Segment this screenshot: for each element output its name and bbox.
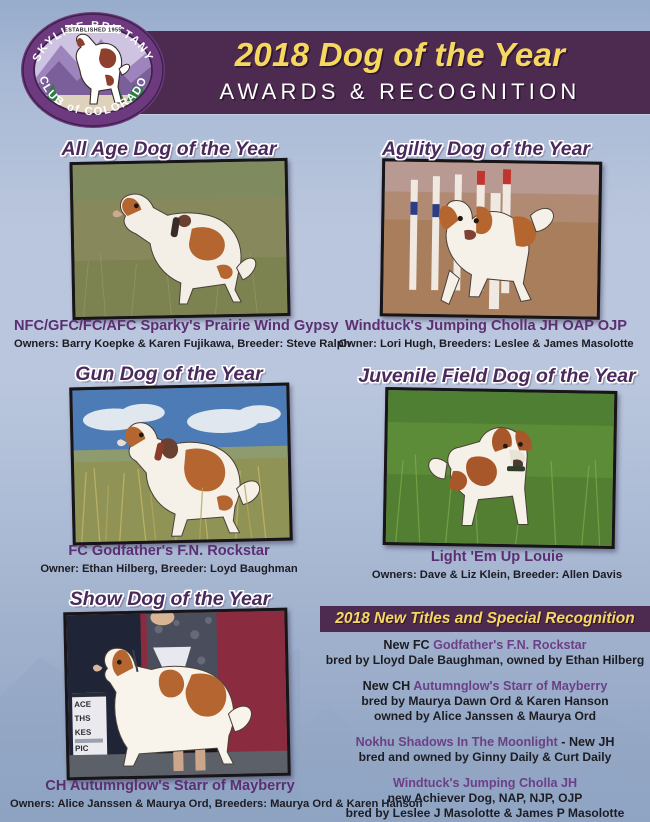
award-credit: Owners: Alice Janssen & Maurya Ord, Bree… (10, 798, 330, 810)
new-title-dog-name: Windtuck's Jumping Cholla JH (393, 776, 577, 790)
award-photo-juvenile-field[interactable] (383, 387, 618, 549)
new-title-suffix: - New JH (558, 735, 615, 749)
new-titles-list: New FC Godfather's F.N. Rockstar bred by… (320, 638, 650, 822)
award-dog-name: CH Autumnglow's Starr of Mayberry (10, 778, 330, 794)
new-title-heading: Nokhu Shadows In The Moonlight - New JH (320, 735, 650, 750)
new-title-detail: bred and owned by Ginny Daily & Curt Dai… (320, 750, 650, 765)
award-block-all-age: All Age Dog of the Year (14, 138, 324, 353)
award-dog-name: Light 'Em Up Louie (352, 549, 642, 565)
award-title: Gun Dog of the Year (14, 363, 324, 386)
new-titles-header-label: 2018 New Titles and Special Recognition (320, 606, 650, 632)
award-block-show-dog: Show Dog of the Year (10, 588, 330, 813)
new-title-detail: bred by Lloyd Dale Baughman, owned by Et… (320, 653, 650, 668)
svg-text:ACE: ACE (74, 700, 92, 709)
new-title-entry: Nokhu Shadows In The Moonlight - New JH … (320, 735, 650, 765)
page-subtitle: AWARDS & RECOGNITION (150, 79, 650, 105)
new-title-heading: New CH Autumnglow's Starr of Mayberry (320, 679, 650, 694)
new-title-prefix: New FC (383, 638, 433, 652)
new-titles-header-bar: 2018 New Titles and Special Recognition (320, 606, 650, 632)
award-block-agility: Agility Dog of the Year (336, 138, 636, 353)
award-photo-agility[interactable] (380, 158, 602, 319)
award-credit: Owner: Lori Hugh, Breeders: Leslee & Jam… (336, 338, 636, 350)
new-title-heading: New FC Godfather's F.N. Rockstar (320, 638, 650, 653)
award-dog-name: Windtuck's Jumping Cholla JH OAP OJP (336, 318, 636, 334)
new-title-entry: New CH Autumnglow's Starr of Mayberry br… (320, 679, 650, 724)
new-title-entry: New FC Godfather's F.N. Rockstar bred by… (320, 638, 650, 668)
award-credit: Owners: Barry Koepke & Karen Fujikawa, B… (14, 338, 324, 350)
award-credit: Owner: Ethan Hilberg, Breeder: Loyd Baug… (14, 563, 324, 575)
svg-text:PIC: PIC (75, 744, 89, 753)
svg-text:KES: KES (75, 728, 92, 737)
poster-canvas: 2018 Dog of the Year AWARDS & RECOGNITIO… (0, 0, 650, 822)
new-title-heading: Windtuck's Jumping Cholla JH (320, 776, 650, 791)
svg-text:THS: THS (74, 714, 91, 723)
award-photo-show-dog[interactable]: ACETHSKESPIC (63, 608, 290, 781)
page-title: 2018 Dog of the Year (150, 36, 650, 74)
new-title-entry: Windtuck's Jumping Cholla JH new Achieve… (320, 776, 650, 822)
award-photo-all-age[interactable] (70, 158, 291, 320)
award-credit: Owners: Dave & Liz Klein, Breeder: Allen… (352, 569, 642, 581)
award-photo-gun-dog[interactable] (69, 383, 293, 546)
new-title-detail: bred by Leslee J Masolotte & James P Mas… (320, 806, 650, 821)
new-title-detail: owned by Alice Janssen & Maurya Ord (320, 709, 650, 724)
award-dog-name: NFC/GFC/FC/AFC Sparky's Prairie Wind Gyp… (14, 318, 324, 334)
award-title: Juvenile Field Dog of the Year (352, 365, 642, 388)
new-title-prefix: New CH (363, 679, 414, 693)
club-logo[interactable]: SKYLINE BRITTANY CLUB of COLORADO ESTABL… (19, 9, 167, 131)
new-title-detail: bred by Maurya Dawn Ord & Karen Hanson (320, 694, 650, 709)
award-title: Show Dog of the Year (10, 588, 330, 611)
award-block-juvenile-field: Juvenile Field Dog of the Year (352, 365, 642, 580)
new-title-dog-name: Nokhu Shadows In The Moonlight (356, 735, 558, 749)
award-block-gun-dog: Gun Dog of the Year (14, 363, 324, 578)
award-title: All Age Dog of the Year (14, 138, 324, 161)
new-title-dog-name: Autumnglow's Starr of Mayberry (413, 679, 607, 693)
logo-established-text: ESTABLISHED 1955 (64, 27, 122, 33)
award-title: Agility Dog of the Year (336, 138, 636, 161)
new-title-dog-name: Godfather's F.N. Rockstar (433, 638, 586, 652)
new-title-detail: new Achiever Dog, NAP, NJP, OJP (320, 791, 650, 806)
award-dog-name: FC Godfather's F.N. Rockstar (14, 543, 324, 559)
